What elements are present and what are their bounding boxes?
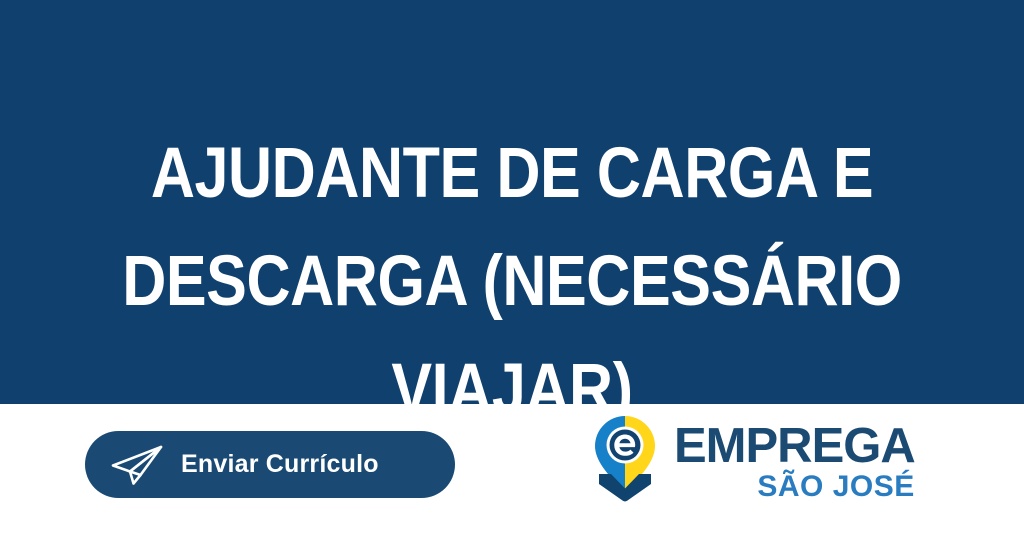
hero-banner: Ajudante de Carga e Descarga (Necessário…	[0, 0, 1024, 404]
logo-subtitle: SÃO JOSÉ	[757, 471, 914, 503]
paper-plane-icon	[109, 444, 165, 486]
send-cv-button-label: Enviar Currículo	[181, 450, 379, 479]
action-bar: Enviar Currículo	[0, 404, 1024, 536]
hero-title-container: Ajudante de Carga e Descarga (Necessário…	[0, 120, 1024, 404]
brand-logo[interactable]: EMPREGA SÃO JOSÉ	[590, 414, 915, 503]
job-posting-card: Ajudante de Carga e Descarga (Necessário…	[0, 0, 1024, 536]
map-pin-e-icon	[590, 414, 660, 502]
page-title: Ajudante de Carga e Descarga (Necessário…	[89, 120, 935, 404]
logo-wordmark: EMPREGA	[674, 420, 915, 472]
send-cv-button[interactable]: Enviar Currículo	[85, 431, 455, 498]
logo-text-block: EMPREGA SÃO JOSÉ	[674, 414, 915, 503]
